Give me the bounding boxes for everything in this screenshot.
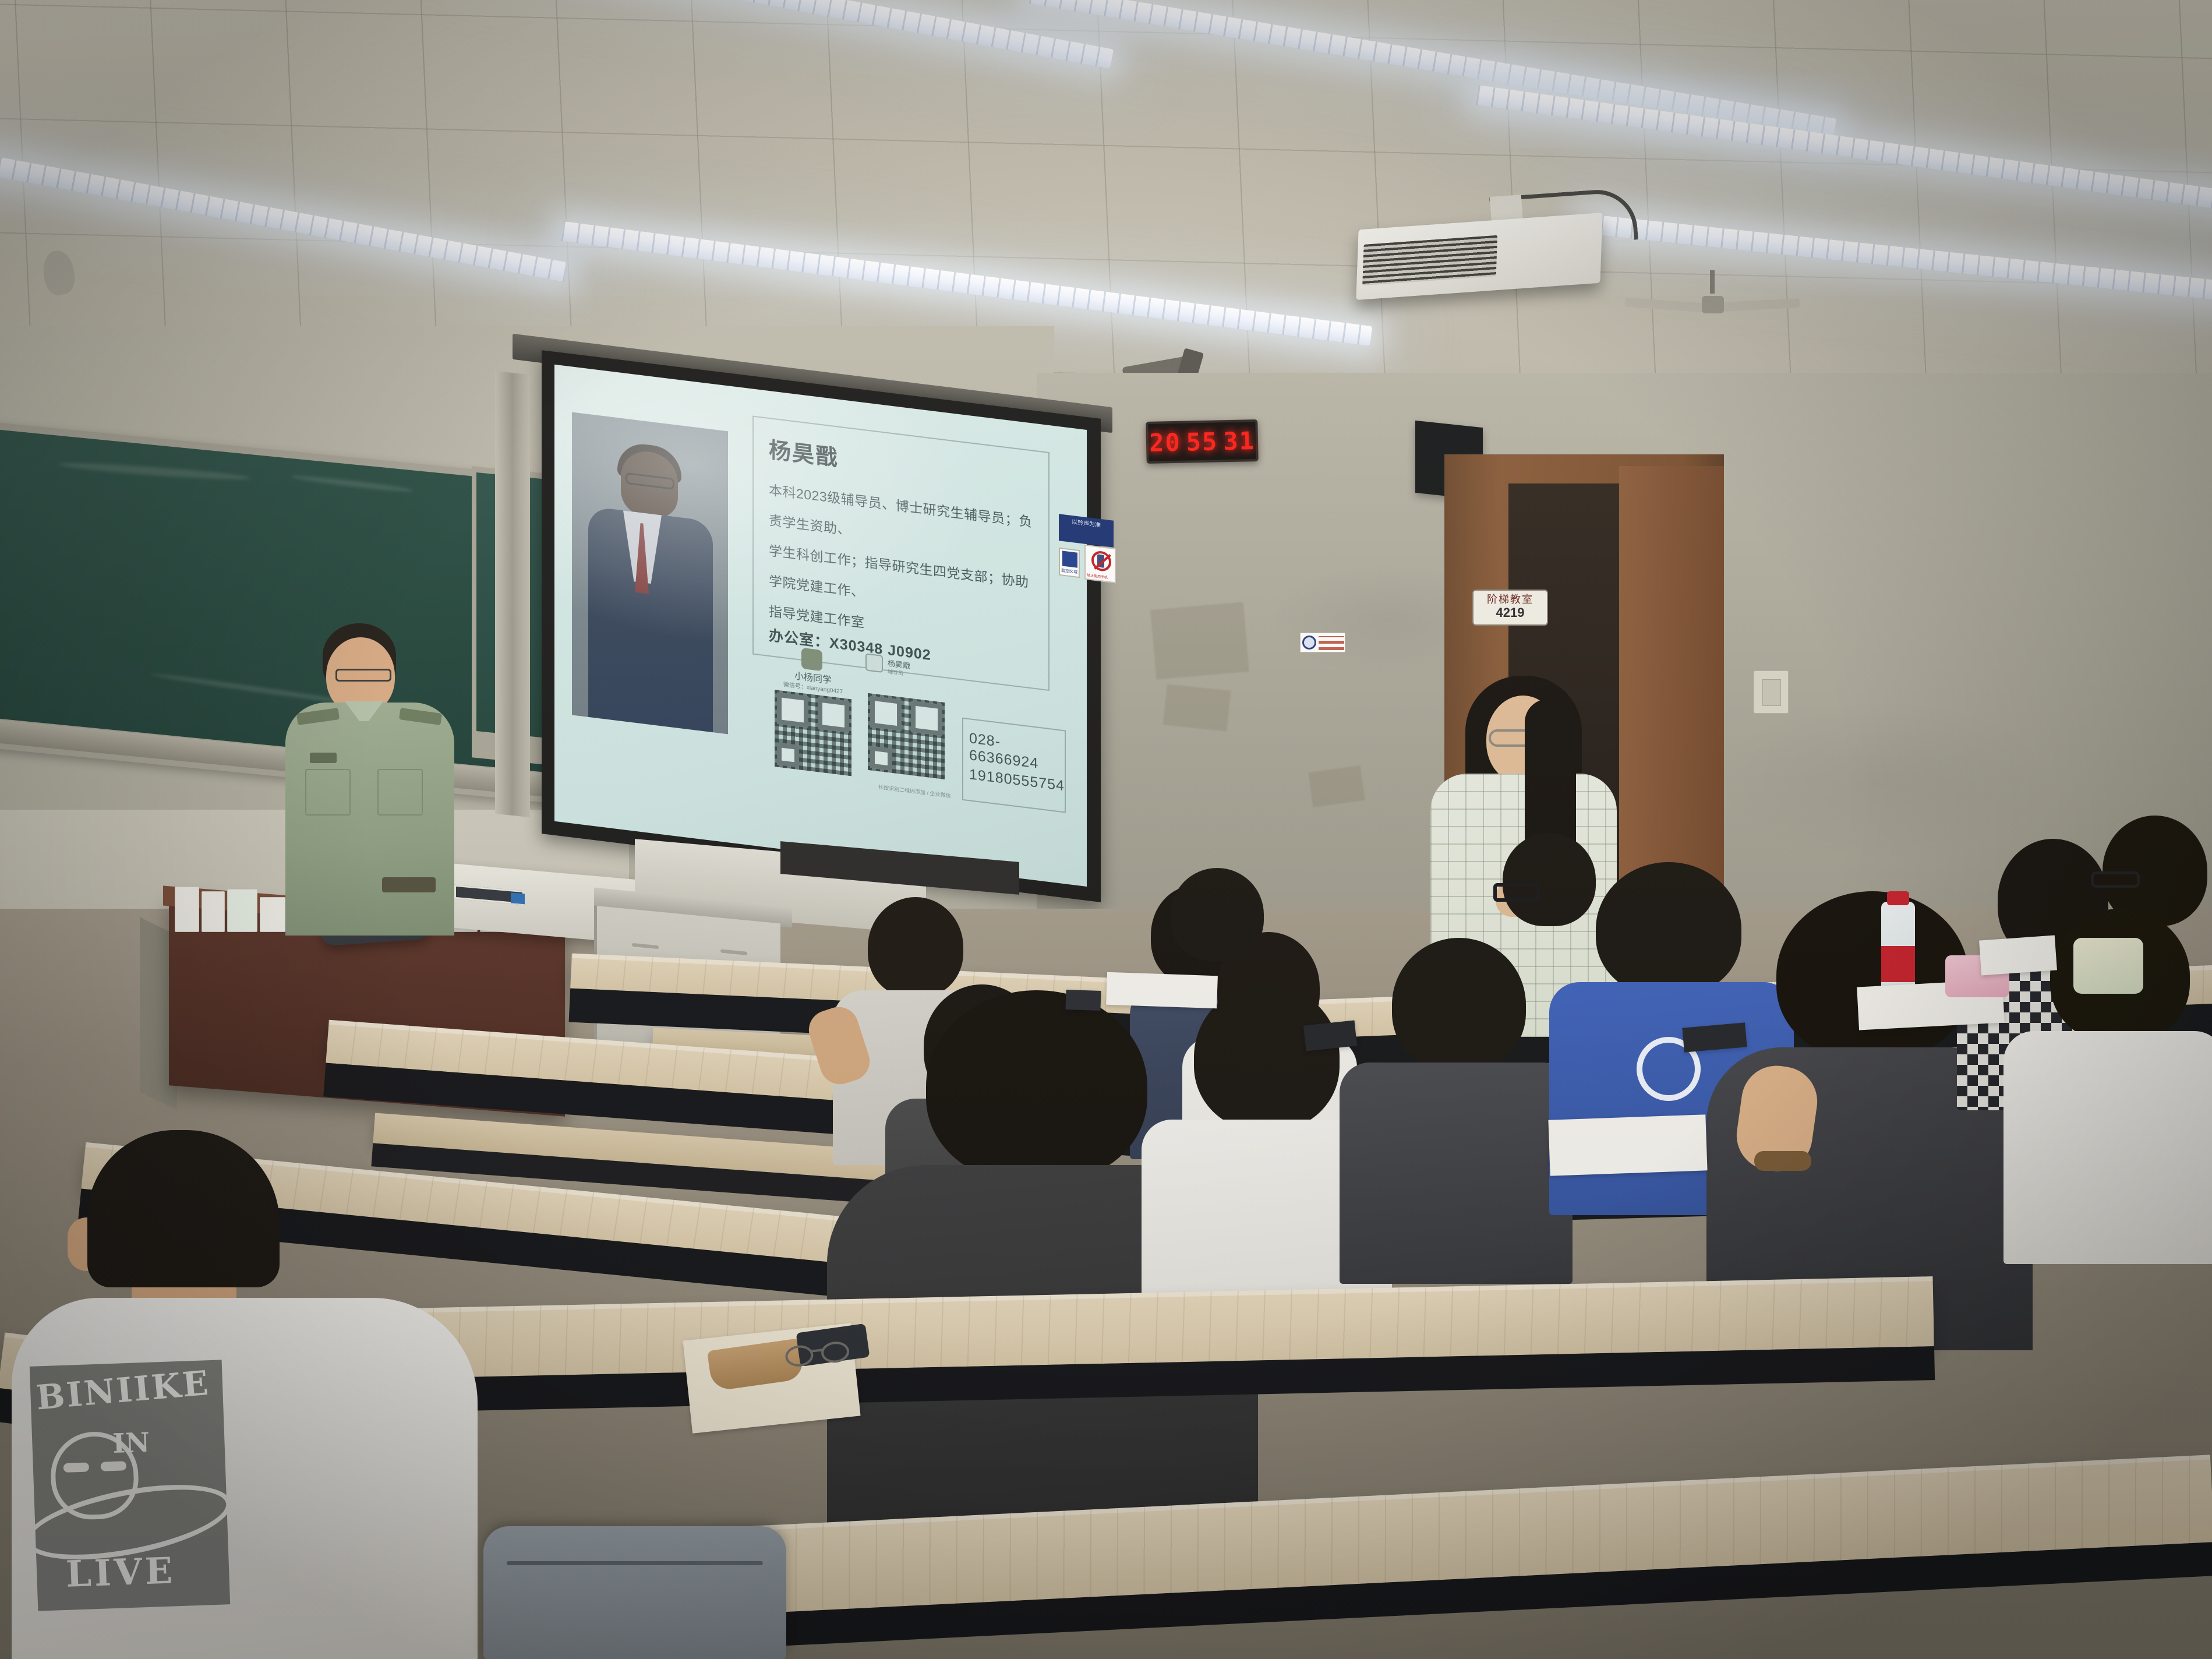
- slide-text-card: 杨昊戬 本科2023级辅导员、博士研究生辅导员；负责学生资助、 学生科创工作；指…: [752, 416, 1050, 691]
- student-hair: [868, 897, 963, 997]
- beaded-bracelet: [1754, 1151, 1811, 1171]
- digital-wall-clock: 20 55 31: [1146, 419, 1258, 464]
- fan-hub: [1702, 296, 1724, 313]
- person-avatar-icon: [1302, 636, 1316, 650]
- student-hair: [926, 990, 1147, 1183]
- mobile-phone[interactable]: [1303, 1021, 1357, 1051]
- student: [1147, 868, 1287, 1060]
- wechat-logo-icon: [801, 648, 822, 671]
- camera-icon: [1062, 551, 1077, 568]
- clock-seconds: 31: [1223, 426, 1256, 456]
- room-number: 4219: [1474, 606, 1547, 620]
- bottle-cap: [1887, 891, 1909, 905]
- slide-phone-box: 028-66366924 19180555754: [962, 718, 1066, 813]
- officer-pocket: [305, 769, 351, 816]
- lecture-hall-photo: 杨昊戬 本科2023级辅导员、博士研究生辅导员；负责学生资助、 学生科创工作；指…: [0, 0, 2212, 1659]
- clock-hours: 20: [1149, 428, 1182, 457]
- light-switch-panel[interactable]: [1753, 670, 1789, 714]
- student-hair: [87, 1130, 280, 1287]
- officer-badge: [310, 753, 337, 763]
- small-box: [175, 887, 199, 932]
- surveillance-sign: 监控区域: [1059, 548, 1080, 578]
- door-notice-sticker: [1300, 633, 1345, 652]
- fan-blade: [1625, 298, 1713, 313]
- qr-footnote: 长按识别二维码添加 / 企业微信: [878, 783, 951, 799]
- slide-portrait-photo: [572, 412, 728, 734]
- cabinet-vent: [632, 943, 659, 949]
- student: [1479, 833, 1613, 1008]
- lens: [820, 1340, 850, 1364]
- wall-stain: [1163, 684, 1231, 731]
- officer-pocket: [377, 769, 423, 816]
- student-hair: [1776, 891, 1969, 1060]
- tshirt-print-graphic: BINIIKE IN LIVE: [30, 1360, 230, 1611]
- console-control-panel[interactable]: [454, 885, 524, 905]
- qr-code-contact: [868, 693, 945, 779]
- office-label: 办公室：: [769, 627, 829, 651]
- small-box: [227, 889, 257, 932]
- lens: [785, 1344, 815, 1368]
- no-phone-sign-label: 禁止使用手机: [1087, 572, 1108, 580]
- fan-rod: [1710, 270, 1715, 294]
- small-box: [202, 891, 225, 932]
- surveillance-sign-label: 监控区域: [1061, 567, 1077, 575]
- wall-stain: [1308, 765, 1365, 807]
- screen-surface: 杨昊戬 本科2023级辅导员、博士研究生辅导员；负责学生资助、 学生科创工作；指…: [554, 365, 1087, 887]
- room-number-plate: 阶梯教室 4219: [1472, 590, 1548, 626]
- military-officer: [280, 623, 454, 926]
- officer-belt: [382, 877, 436, 892]
- student-shirt: [1340, 1063, 1573, 1284]
- paper-sheet: [1106, 972, 1218, 1009]
- ceiling-fan: [1625, 291, 1800, 324]
- projector-vents: [1362, 235, 1497, 285]
- student-glasses: [1493, 883, 1540, 902]
- student-hair: [1171, 868, 1264, 961]
- contact-card-icon: [865, 653, 883, 673]
- mobile-phone[interactable]: [1065, 990, 1101, 1011]
- backpack-zipper: [507, 1561, 763, 1565]
- student-glasses: [2091, 871, 2140, 888]
- board-slide-rail: [495, 371, 530, 817]
- cat-eye-icon: [101, 1461, 127, 1471]
- qr-right-sub: 辅导员: [888, 668, 903, 677]
- slide-person-name: 杨昊戬: [769, 432, 839, 472]
- wall-stain: [1150, 602, 1249, 679]
- paper-sheet: [1979, 936, 2057, 976]
- floral-pouch: [2073, 938, 2143, 994]
- student-hair: [1503, 833, 1596, 926]
- no-phone-sign: 禁止使用手机: [1084, 545, 1116, 584]
- prohibition-circle-icon: [1091, 550, 1111, 572]
- sticker-text-block: [1319, 636, 1344, 650]
- fan-blade: [1712, 298, 1800, 312]
- bottle-label: [1881, 946, 1915, 982]
- foreground-student: BINIIKE IN LIVE: [12, 1130, 478, 1659]
- clock-minutes: 55: [1186, 427, 1218, 456]
- tshirt-mid-text: IN: [112, 1427, 150, 1459]
- paper-sheet: [1548, 1114, 1707, 1176]
- qr-code-wechat: [775, 690, 851, 776]
- projection-screen: 杨昊戬 本科2023级辅导员、博士研究生辅导员；负责学生资助、 学生科创工作；指…: [542, 350, 1101, 902]
- qr-corner: [870, 746, 892, 771]
- tshirt-bottom-text: LIVE: [65, 1549, 176, 1596]
- cabinet-vent: [720, 949, 747, 955]
- tshirt-top-text: BINIIKE: [34, 1363, 219, 1431]
- chalk-smudge: [291, 474, 414, 493]
- student-shirt: [2003, 1031, 2212, 1264]
- room-type-label: 阶梯教室: [1474, 593, 1547, 606]
- qr-corner: [777, 743, 799, 768]
- chalk-smudge: [58, 460, 250, 482]
- cat-eye-icon: [63, 1462, 90, 1473]
- officer-glasses: [335, 669, 391, 682]
- officer-uniform: [285, 703, 454, 936]
- foreground-backpack: [483, 1526, 786, 1659]
